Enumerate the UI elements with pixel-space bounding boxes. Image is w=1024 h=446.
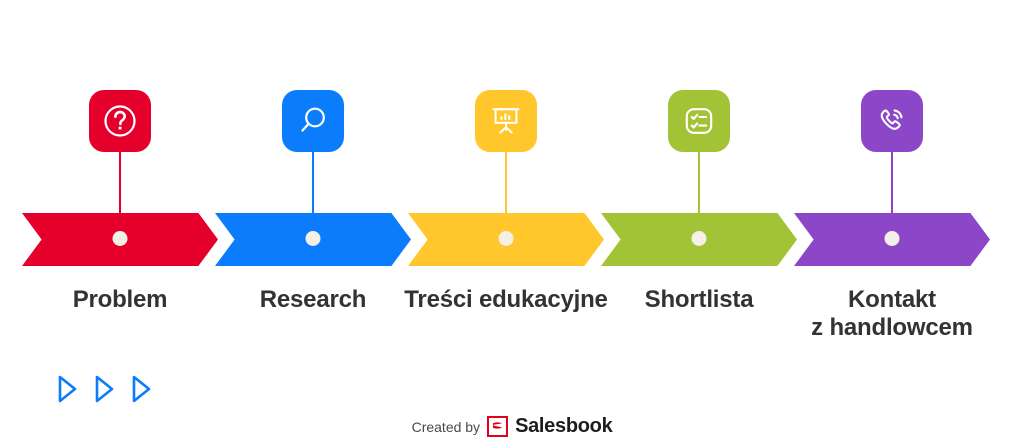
triangle-play-icon [130,374,152,409]
credit-label: Created by [412,419,480,435]
step-icon-tile-tresci-edukacyjne[interactable] [475,90,537,152]
process-step-research[interactable]: Research [215,0,411,360]
presentation-chart-icon [487,102,525,140]
step-band-dot-tresci-edukacyjne [499,231,514,246]
step-connector-problem [119,152,121,235]
step-connector-tresci-edukacyjne [505,152,507,235]
step-connector-shortlista [698,152,700,235]
step-band-dot-kontakt-z-handlowcem [885,231,900,246]
step-connector-kontakt-z-handlowcem [891,152,893,235]
step-icon-tile-shortlista[interactable] [668,90,730,152]
process-step-tresci-edukacyjne[interactable]: Treści edukacyjne [408,0,604,360]
step-connector-research [312,152,314,235]
step-icon-tile-research[interactable] [282,90,344,152]
process-step-shortlista[interactable]: Shortlista [601,0,797,360]
step-band-dot-shortlista [692,231,707,246]
salesbook-logo-icon [487,416,508,437]
process-infographic: Problem Research [0,0,1024,446]
phone-call-icon [873,102,911,140]
step-icon-tile-kontakt-z-handlowcem[interactable] [861,90,923,152]
checklist-icon [680,102,718,140]
magnifying-glass-icon [294,102,332,140]
footer-credit: Created by Salesbook [0,415,1024,438]
brand-name: Salesbook [515,415,612,438]
triangle-play-icon [56,374,78,409]
triangle-play-icon [93,374,115,409]
step-band-dot-research [306,231,321,246]
step-band-dot-problem [113,231,128,246]
step-icon-tile-problem[interactable] [89,90,151,152]
process-step-kontakt-z-handlowcem[interactable]: Kontakt z handlowcem [794,0,990,360]
process-step-problem[interactable]: Problem [22,0,218,360]
decorative-arrows [56,374,152,409]
question-mark-icon [101,102,139,140]
process-steps-strip: Problem Research [0,0,1024,360]
step-label-kontakt-z-handlowcem: Kontakt z handlowcem [777,286,1007,343]
